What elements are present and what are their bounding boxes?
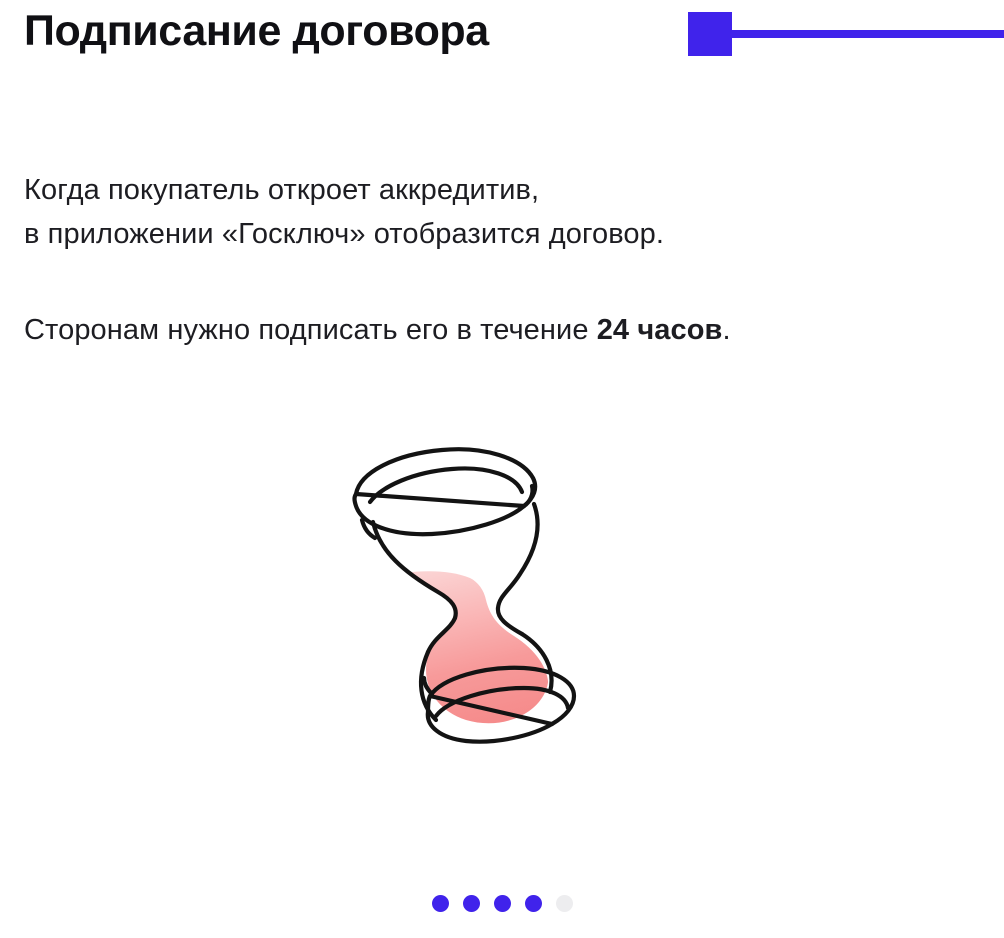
page-title: Подписание договора	[24, 3, 489, 59]
pagination-dot-3[interactable]	[494, 895, 511, 912]
hourglass-illustration	[318, 428, 618, 748]
copy-line-3-prefix: Сторонам нужно подписать его в течение	[24, 314, 597, 346]
body-copy: Когда покупатель откроет аккредитив, в п…	[24, 168, 964, 352]
paragraph-deadline: Сторонам нужно подписать его в течение 2…	[24, 308, 964, 352]
accent-square-icon	[688, 12, 732, 56]
pagination-dot-5[interactable]	[556, 895, 573, 912]
copy-line-3-suffix: .	[722, 314, 730, 346]
pagination-dot-2[interactable]	[463, 895, 480, 912]
slide-header: Подписание договора	[0, 0, 1004, 70]
pagination-dot-1[interactable]	[432, 895, 449, 912]
accent-decoration	[688, 12, 1004, 56]
copy-line-1: Когда покупатель откроет аккредитив,	[24, 174, 539, 206]
copy-line-3-bold: 24 часов	[597, 314, 723, 346]
copy-line-2: в приложении «Госключ» отобразится догов…	[24, 218, 664, 250]
slide-root: Подписание договора Когда покупатель отк…	[0, 0, 1004, 938]
paragraph-intro: Когда покупатель откроет аккредитив, в п…	[24, 168, 964, 256]
pagination-dots[interactable]	[0, 895, 1004, 912]
hourglass-sand	[378, 571, 548, 730]
pagination-dot-4[interactable]	[525, 895, 542, 912]
accent-line-icon	[732, 30, 1004, 38]
hourglass-top-rim	[355, 449, 536, 538]
